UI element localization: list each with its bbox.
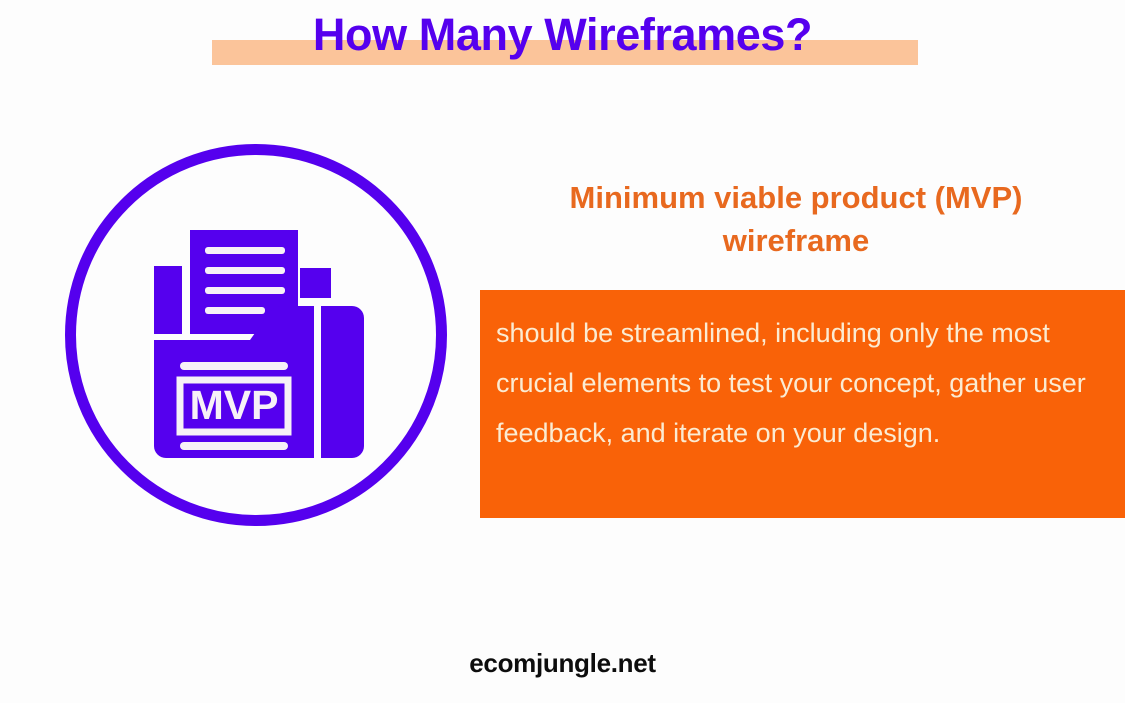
mvp-binder-document-icon: MVP: [152, 228, 366, 458]
title-text: How Many Wireframes?: [313, 4, 812, 66]
footer-site-name: ecomjungle.net: [0, 645, 1125, 681]
slide-canvas: How Many Wireframes? MVP: [0, 0, 1125, 703]
body-text: should be streamlined, including only th…: [496, 308, 1103, 458]
svg-text:MVP: MVP: [190, 382, 279, 428]
content-heading: Minimum viable product (MVP) wireframe: [470, 176, 1122, 262]
page-title: How Many Wireframes?: [0, 4, 1125, 70]
content-heading-line-2: wireframe: [470, 219, 1122, 262]
body-text-panel: should be streamlined, including only th…: [480, 290, 1125, 518]
content-heading-line-1: Minimum viable product (MVP): [470, 176, 1122, 219]
